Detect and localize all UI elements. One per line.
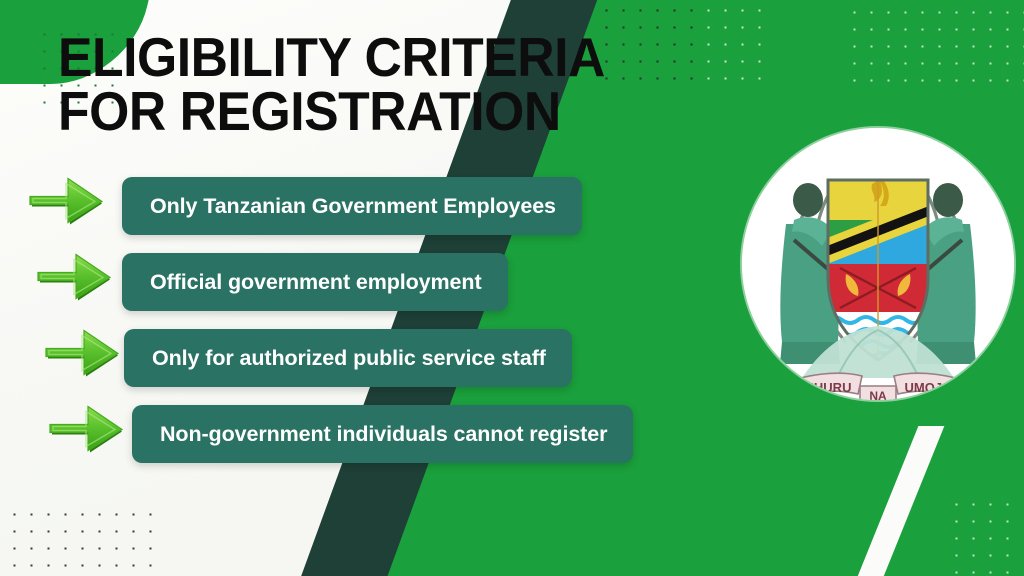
arrow-right-icon [34,249,118,316]
arrow-right-icon [26,173,110,240]
criteria-item[interactable]: Non-government individuals cannot regist… [0,396,760,472]
motto-center: NA [869,389,887,400]
page-title: ELIGIBILITY CRITERIA FOR REGISTRATION [58,30,660,139]
criteria-item[interactable]: Only for authorized public service staff [0,320,760,396]
tanzania-coat-of-arms-emblem: UHURU NA UMOJA [742,128,1014,400]
criteria-item[interactable]: Only Tanzanian Government Employees [0,168,760,244]
arrow-right-icon [42,325,126,392]
bottom-right-dot-grid [948,496,1022,574]
top-middle-dot-grid-on-green [700,2,772,94]
criteria-pill[interactable]: Non-government individuals cannot regist… [132,405,633,463]
slide-canvas: ELIGIBILITY CRITERIA FOR REGISTRATION [0,0,1024,576]
criteria-list: Only Tanzanian Government Employees Offi… [0,168,760,472]
bottom-left-dot-grid [6,506,164,576]
coat-of-arms-graphic: UHURU NA UMOJA [742,128,1014,400]
criteria-pill[interactable]: Only for authorized public service staff [124,329,572,387]
criteria-pill[interactable]: Only Tanzanian Government Employees [122,177,582,235]
criteria-item[interactable]: Official government employment [0,244,760,320]
arrow-right-icon [46,401,130,468]
criteria-pill[interactable]: Official government employment [122,253,508,311]
top-right-dot-grid [846,4,1024,94]
